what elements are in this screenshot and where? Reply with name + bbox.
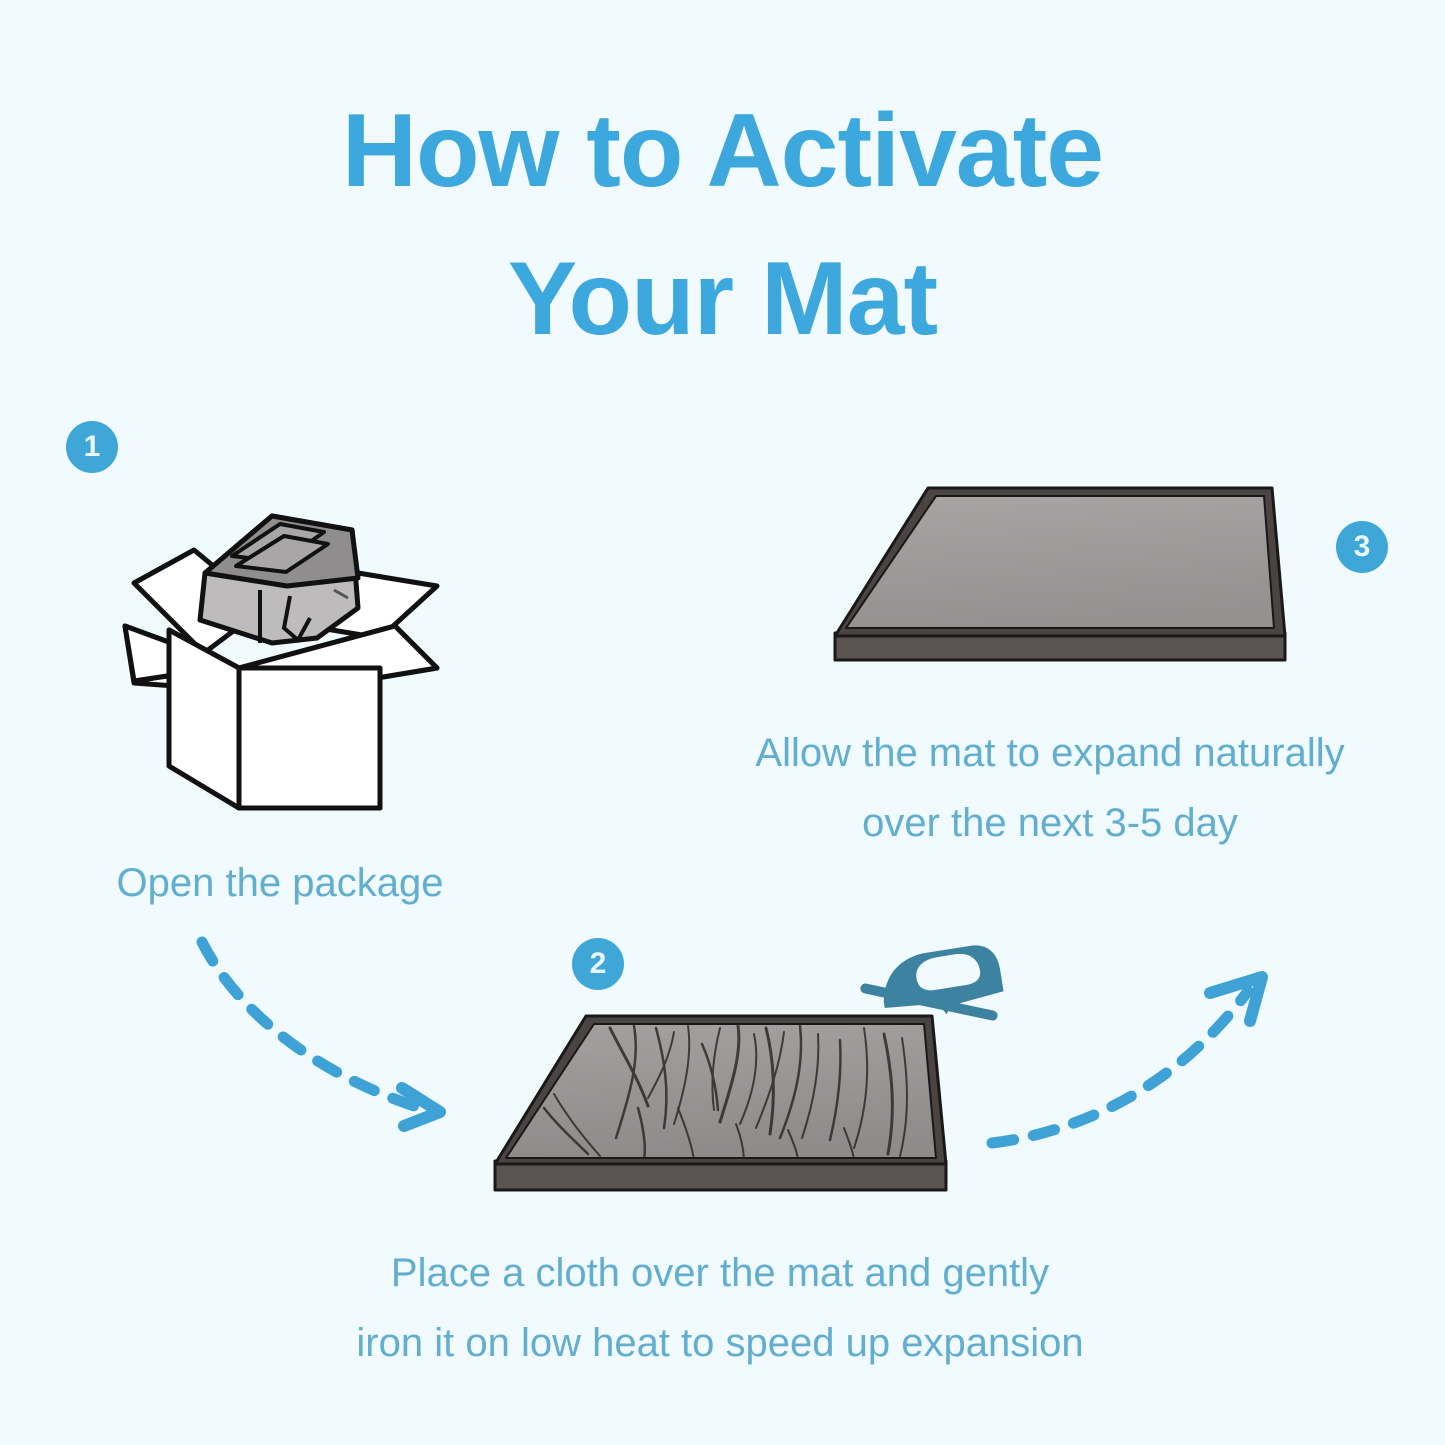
- expanded-mat-icon: [830, 468, 1300, 683]
- page-title: How to Activate Your Mat: [0, 78, 1445, 373]
- arrow-step1-to-step2-icon: [168, 928, 498, 1143]
- step-1-caption: Open the package: [40, 848, 520, 918]
- infographic-canvas: How to Activate Your Mat 1: [0, 0, 1445, 1445]
- step-2-caption-line-2: iron it on low heat to speed up expansio…: [356, 1321, 1083, 1365]
- step-badge-2: 2: [572, 938, 624, 990]
- step-badge-1: 1: [66, 421, 118, 473]
- step-3-caption-line-1: Allow the mat to expand naturally: [755, 731, 1344, 775]
- step-badge-3: 3: [1336, 521, 1388, 573]
- open-box-icon: [112, 478, 477, 823]
- step-2-caption: Place a cloth over the mat and gently ir…: [255, 1238, 1185, 1378]
- step-2-caption-line-1: Place a cloth over the mat and gently: [391, 1251, 1049, 1295]
- step-3-caption: Allow the mat to expand naturally over t…: [672, 718, 1428, 858]
- page-title-line-2: Your Mat: [0, 226, 1445, 374]
- arrow-step2-to-step3-icon: [978, 955, 1288, 1165]
- page-title-line-1: How to Activate: [0, 78, 1445, 226]
- packed-mat-shape: [200, 516, 358, 643]
- step-3-caption-line-2: over the next 3-5 day: [862, 801, 1238, 845]
